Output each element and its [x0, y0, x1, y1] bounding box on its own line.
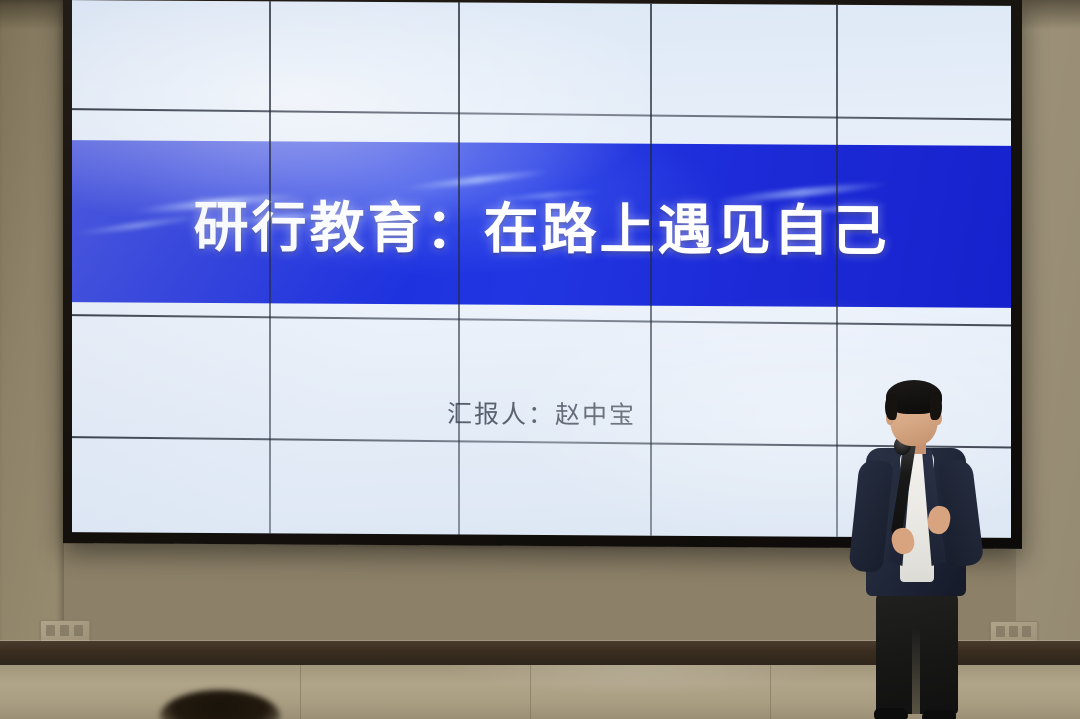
presenter-hair-side-right	[930, 394, 942, 420]
outlet-slot	[60, 625, 69, 636]
wall-left-column	[0, 0, 64, 648]
presenter-leg-gap	[912, 628, 920, 714]
floor-tile-seam	[770, 665, 771, 719]
presenter-shoe-left	[874, 708, 908, 719]
outlet-slot	[1009, 626, 1018, 637]
outlet-slot	[46, 625, 55, 636]
outlet-slot	[1022, 626, 1031, 637]
presenter-shoe-right	[922, 710, 956, 719]
floor-tile-seam	[530, 665, 531, 719]
outlet-slot	[996, 626, 1005, 637]
floor-reflection	[430, 665, 850, 719]
presentation-scene: 研行教育：在路上遇见自己 汇报人：赵中宝	[0, 0, 1080, 719]
floor-tile-seam	[300, 665, 301, 719]
presenter-hair-side-left	[885, 394, 897, 420]
wall-outlet-right[interactable]	[990, 621, 1038, 643]
outlet-slot	[74, 625, 83, 636]
slide-title: 研行教育：在路上遇见自己	[72, 140, 1011, 308]
presenter	[848, 378, 984, 719]
